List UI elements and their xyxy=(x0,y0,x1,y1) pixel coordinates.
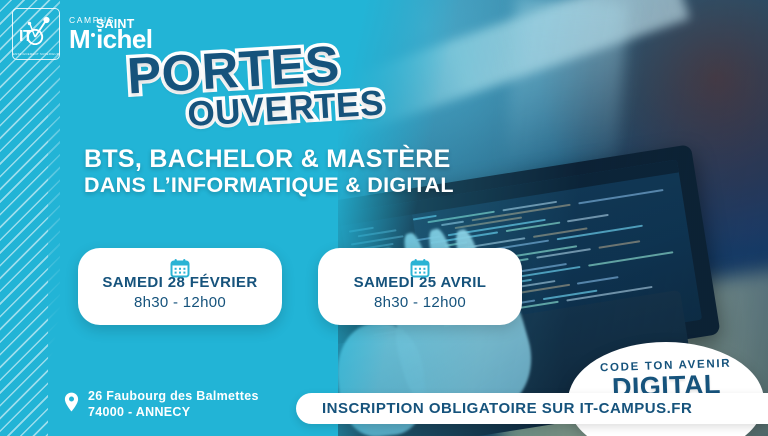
location-pin-icon xyxy=(64,392,79,417)
date-time: 8h30 - 12h00 xyxy=(100,294,260,311)
address-block: 26 Faubourg des Balmettes 74000 - ANNECY xyxy=(64,388,259,420)
calendar-icon xyxy=(410,258,430,283)
date-card[interactable]: SAMEDI 28 FÉVRIER 8h30 - 12h00 xyxy=(78,248,282,325)
subtitle-line-2: DANS L’INFORMATIQUE & DIGITAL xyxy=(84,173,454,198)
subtitle: BTS, BACHELOR & MASTÈRE DANS L’INFORMATI… xyxy=(84,145,454,198)
poster-root: IT ENSEIGNEMENT SUPERIEUR CAMPUS Michel … xyxy=(0,0,768,436)
calendar-icon xyxy=(170,258,190,283)
footer: 26 Faubourg des Balmettes 74000 - ANNECY… xyxy=(0,374,768,436)
date-cards: SAMEDI 28 FÉVRIER 8h30 - 12h00 SAME xyxy=(78,248,522,325)
headline: PORTES OUVERTES xyxy=(126,39,385,135)
logo-saint-label: SAINT xyxy=(96,18,135,31)
logo-dot xyxy=(91,33,95,37)
hatch-fade-edge xyxy=(48,0,84,436)
address-line-1: 26 Faubourg des Balmettes xyxy=(88,388,259,404)
subtitle-line-1: BTS, BACHELOR & MASTÈRE xyxy=(84,145,454,173)
address-line-2: 74000 - ANNECY xyxy=(88,404,259,420)
date-card[interactable]: SAMEDI 25 AVRIL 8h30 - 12h00 xyxy=(318,248,522,325)
date-time: 8h30 - 12h00 xyxy=(340,294,500,311)
it-network-icon xyxy=(26,15,52,45)
address-lines: 26 Faubourg des Balmettes 74000 - ANNECY xyxy=(88,388,259,420)
inscription-text: INSCRIPTION OBLIGATOIRE SUR IT-CAMPUS.FR xyxy=(322,400,692,417)
inscription-bar[interactable]: INSCRIPTION OBLIGATOIRE SUR IT-CAMPUS.FR xyxy=(296,393,768,424)
it-logo-mark: IT ENSEIGNEMENT SUPERIEUR xyxy=(12,8,60,60)
inscription-site[interactable]: IT-CAMPUS.FR xyxy=(580,400,693,417)
inscription-prefix: INSCRIPTION OBLIGATOIRE SUR xyxy=(322,400,580,417)
logo-mark-tagline: ENSEIGNEMENT SUPERIEUR xyxy=(13,52,59,56)
